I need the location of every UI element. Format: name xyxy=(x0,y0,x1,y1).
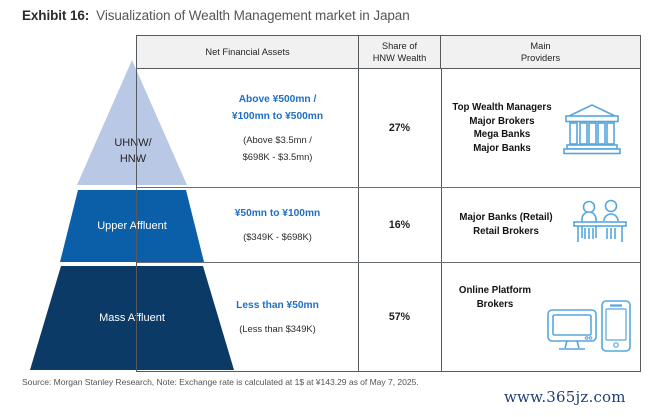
assets-main-row1-line1: Above ¥500mn / xyxy=(239,91,317,108)
provider-item: Retail Brokers xyxy=(473,225,539,239)
assets-sub-row2-line1: ($349K - $698K) xyxy=(243,228,312,245)
provider-item: Brokers xyxy=(477,298,514,312)
providers-list-row1: Top Wealth Managers Major Brokers Mega B… xyxy=(441,101,559,155)
share-value-row3: 57% xyxy=(389,311,410,323)
watermark: www.365jz.com xyxy=(504,388,626,406)
column-header-net-financial-assets: Net Financial Assets xyxy=(137,36,358,68)
cell-assets-text-row2: ¥50mn to ¥100mn ($349K - $698K) xyxy=(197,187,358,262)
column-header-providers-line1: Main xyxy=(521,40,560,52)
cell-share-row2: 16% xyxy=(358,187,441,262)
exhibit-figure: Exhibit 16: Visualization of Wealth Mana… xyxy=(0,0,657,417)
provider-item: Major Brokers xyxy=(469,115,534,129)
share-value-row1: 27% xyxy=(389,122,410,134)
provider-item: Online Platform xyxy=(459,284,531,298)
column-header-share-line1: Share of xyxy=(373,40,427,52)
column-header-providers-line2: Providers xyxy=(521,52,560,64)
cell-providers-row2: Major Banks (Retail) Retail Brokers xyxy=(441,187,640,262)
column-header-main-providers: Main Providers xyxy=(441,36,640,68)
cell-share-row3: 57% xyxy=(358,262,441,372)
provider-item: Top Wealth Managers xyxy=(452,101,551,115)
cell-providers-row1: Top Wealth Managers Major Brokers Mega B… xyxy=(441,69,640,187)
wealth-segments-table: Net Financial Assets Share of HNW Wealth… xyxy=(136,35,641,372)
assets-sub-row1-line1: (Above $3.5mn / xyxy=(243,131,312,148)
providers-list-row3: Online Platform Brokers xyxy=(441,284,545,311)
column-header-share-line2: HNW Wealth xyxy=(373,52,427,64)
provider-item: Mega Banks xyxy=(474,128,531,142)
provider-item: Major Banks (Retail) xyxy=(459,211,552,225)
assets-sub-row1-line2: $698K - $3.5mn) xyxy=(243,148,313,165)
share-value-row2: 16% xyxy=(389,219,410,231)
assets-main-row1-line2: ¥100mn to ¥500mn xyxy=(232,108,323,125)
advisors-at-desk-icon xyxy=(569,197,631,253)
column-header-net-financial-assets-label: Net Financial Assets xyxy=(205,46,289,58)
bank-building-icon xyxy=(561,99,623,157)
assets-sub-row3-line1: (Less than $349K) xyxy=(239,320,316,337)
cell-providers-row3: Online Platform Brokers xyxy=(441,262,640,372)
column-header-share-of-hnw-wealth: Share of HNW Wealth xyxy=(358,36,441,68)
monitor-and-phone-icon xyxy=(545,298,633,360)
cell-assets-text-row3: Less than ¥50mn (Less than $349K) xyxy=(197,262,358,372)
providers-list-row2: Major Banks (Retail) Retail Brokers xyxy=(441,211,567,238)
assets-main-row3-line1: Less than ¥50mn xyxy=(236,297,319,314)
cell-assets-text-row1: Above ¥500mn / ¥100mn to ¥500mn (Above $… xyxy=(197,69,358,187)
table-header-row: Net Financial Assets Share of HNW Wealth… xyxy=(137,36,640,69)
source-note: Source: Morgan Stanley Research, Note: E… xyxy=(22,377,419,387)
assets-main-row2-line1: ¥50mn to ¥100mn xyxy=(235,205,321,222)
provider-item: Major Banks xyxy=(473,142,531,156)
cell-share-row1: 27% xyxy=(358,69,441,187)
